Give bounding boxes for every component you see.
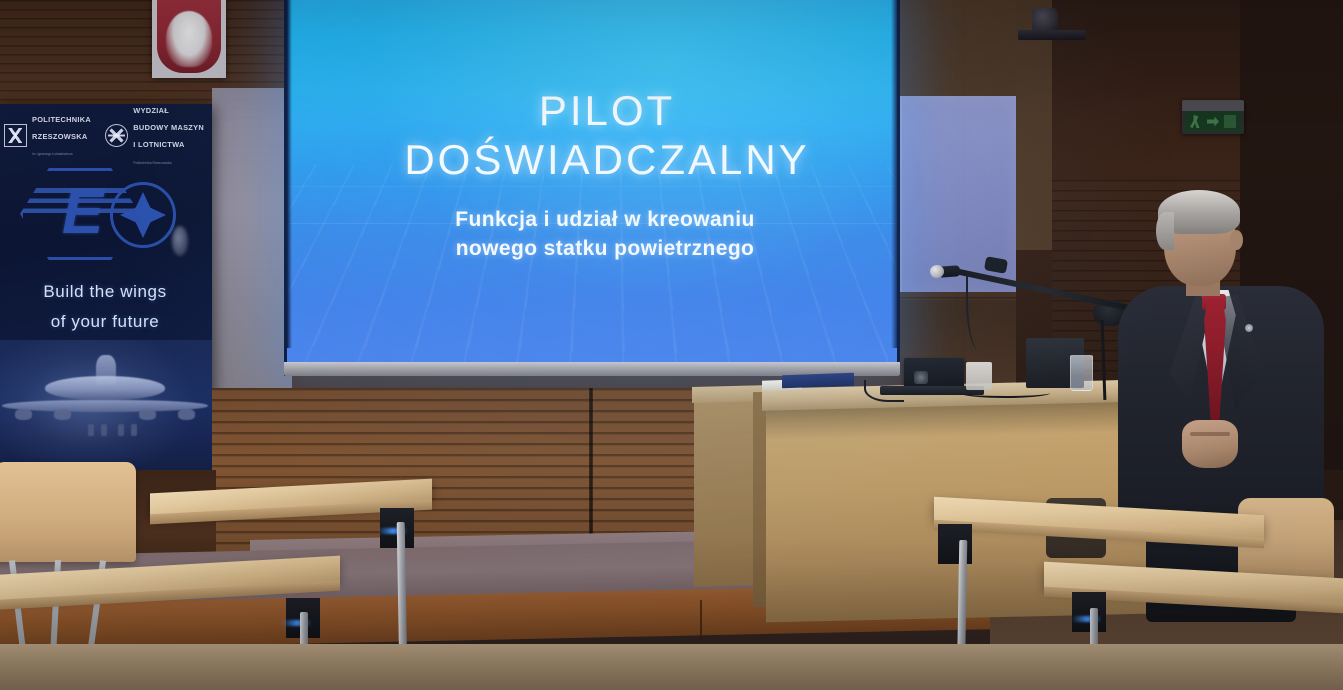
presenter-hands [1182,420,1238,468]
blue-folder [782,373,854,389]
lecture-hall-scene: PILOT DOŚWIADCZALNY Funkcja i udział w k… [0,0,1343,690]
tissue-box [966,362,992,390]
presenter-lapel-pin [1245,324,1253,332]
desk-cable [960,388,1050,398]
water-glass [1070,355,1093,391]
left-chair[interactable] [0,462,136,562]
presenter-ear [1230,230,1243,250]
desk-cable-loop [864,380,904,402]
floor-foreground [0,644,1343,690]
presenter-hair-side [1156,212,1174,250]
table-bracket [1072,592,1106,632]
microphone-icon [930,265,944,278]
